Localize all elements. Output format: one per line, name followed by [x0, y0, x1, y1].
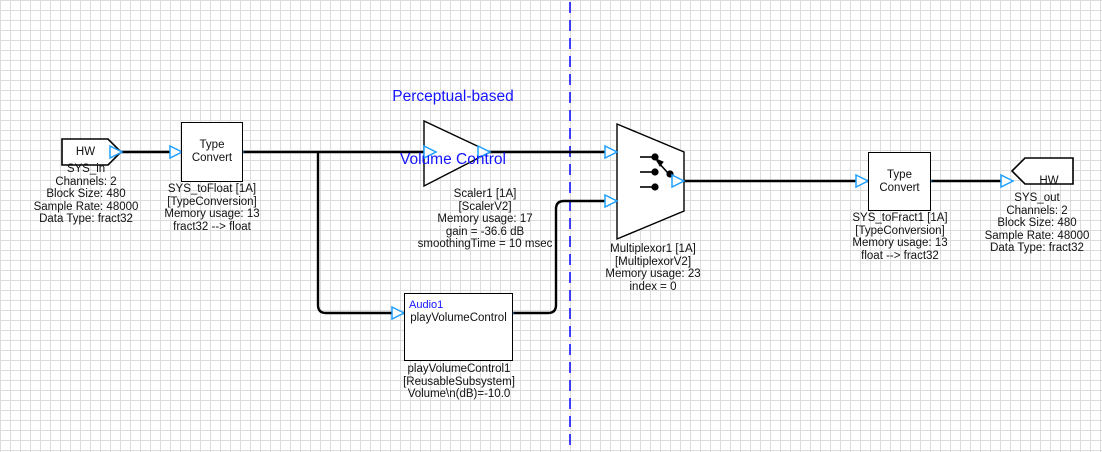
- sys-out-input-port: [1001, 175, 1013, 187]
- volumecontrol-input-port: [392, 307, 404, 319]
- play-volume-control-port-label: Audio1: [409, 300, 443, 311]
- block-diagram-canvas[interactable]: Perceptual-based Volume Control HW SYS_i…: [0, 0, 1102, 452]
- play-volume-control-body-label: playVolumeControl: [404, 312, 513, 324]
- diagram-title-line2: Volume Control: [353, 149, 553, 170]
- sys-out-caption: SYS_out Channels: 2 Block Size: 480 Samp…: [972, 192, 1102, 255]
- sys-tofloat-body-line1: Type: [200, 139, 225, 152]
- sys-tofloat-caption: SYS_toFloat [1A] [TypeConversion] Memory…: [142, 183, 282, 233]
- sys-tofloat-body-line2: Convert: [192, 152, 232, 165]
- diagram-title-line1: Perceptual-based: [353, 86, 553, 107]
- sys-tofloat-block[interactable]: Type Convert: [181, 122, 243, 182]
- sys-tofloat-body: Type Convert: [182, 123, 242, 181]
- scaler1-caption: Scaler1 [1A] [ScalerV2] Memory usage: 17…: [387, 188, 583, 251]
- sys-tofract-input-port: [856, 175, 868, 187]
- sys-tofract-body-line2: Convert: [879, 182, 919, 195]
- sys-tofract-body-line1: Type: [887, 169, 912, 182]
- play-volume-control-caption: playVolumeControl1 [ReusableSubsystem] V…: [383, 363, 535, 401]
- multiplexor1-caption: Multiplexor1 [1A] [MultiplexorV2] Memory…: [586, 243, 720, 293]
- sys-in-caption: SYS_in Channels: 2 Block Size: 480 Sampl…: [16, 163, 156, 226]
- mux-input-port-2: [605, 195, 617, 207]
- sys-in-body-label: HW: [62, 146, 109, 158]
- diagram-title: Perceptual-based Volume Control: [353, 44, 553, 212]
- sys-tofract-body: Type Convert: [869, 153, 930, 210]
- sys-tofract-block[interactable]: Type Convert: [868, 152, 931, 211]
- sys-out-body-label: HW: [1025, 175, 1073, 187]
- mux-input-port-1: [605, 146, 617, 158]
- sys-tofract-caption: SYS_toFract1 [1A] [TypeConversion] Memor…: [830, 212, 970, 262]
